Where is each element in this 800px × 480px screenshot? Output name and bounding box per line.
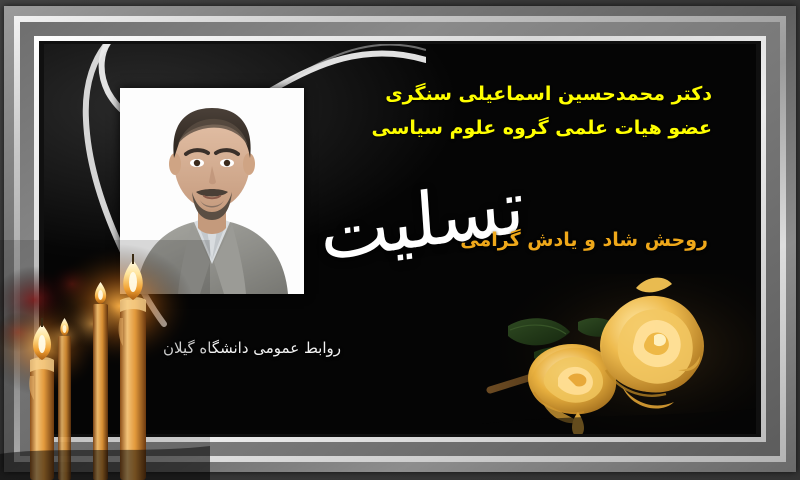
roses-illustration (482, 274, 756, 434)
invocation-calligraphy: هوالباقی (336, 44, 546, 68)
affiliation-text: روابط عمومی دانشگاه گیلان (102, 337, 402, 359)
headline-calligraphy: تسلیت (312, 162, 532, 282)
headline-calligraphy-text: تسلیت (309, 147, 535, 296)
artwork-canvas: هوالباقی تسلیت (44, 44, 756, 434)
deceased-name-block: دکتر محمدحسین اسماعیلی سنگری عضو هیات عل… (332, 77, 712, 145)
tribute-text: روحش شاد و یادش گرامی (368, 226, 708, 254)
deceased-title: عضو هیات علمی گروه علوم سیاسی (332, 111, 712, 145)
condolence-poster: هوالباقی تسلیت (0, 0, 800, 480)
deceased-name: دکتر محمدحسین اسماعیلی سنگری (332, 77, 712, 111)
portrait-photo (120, 88, 304, 294)
